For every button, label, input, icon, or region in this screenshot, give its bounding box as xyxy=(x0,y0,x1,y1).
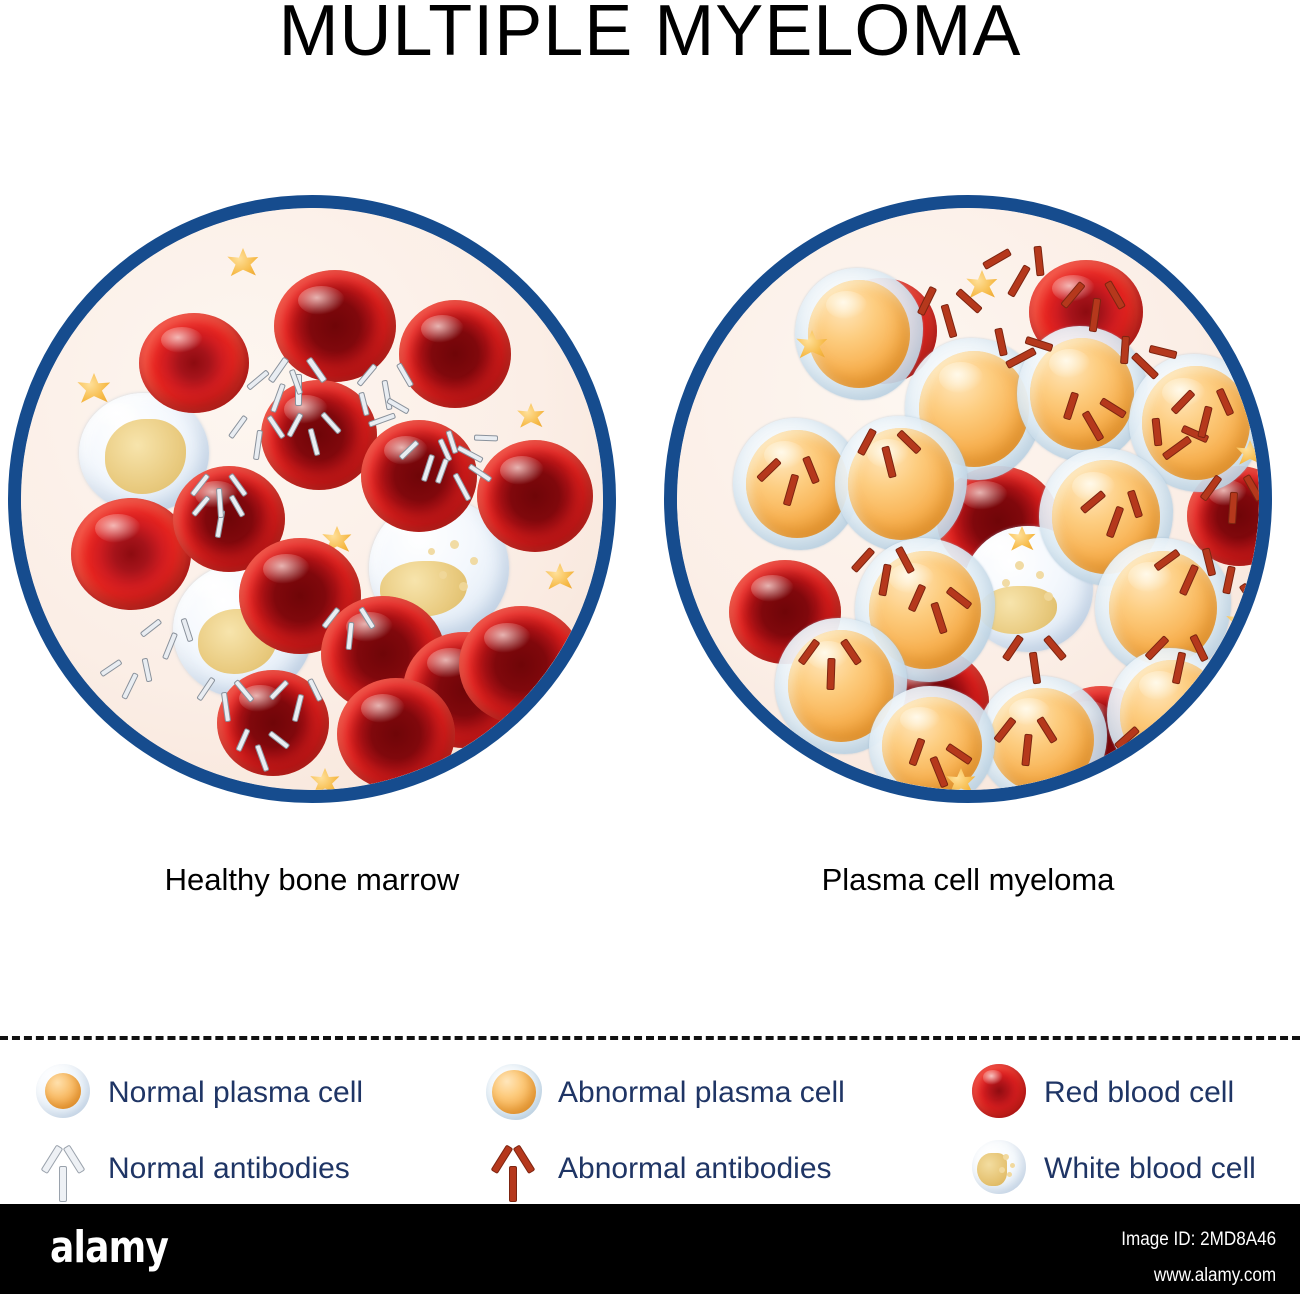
abnormal-antibody xyxy=(1117,716,1181,780)
cell-granule xyxy=(439,571,447,579)
abnormal-antibody xyxy=(799,632,863,696)
normal-antibody xyxy=(233,720,293,780)
legend-item-abnormal-antibodies: Abnormal antibodies xyxy=(486,1140,832,1198)
red-blood-cell xyxy=(459,606,583,724)
legend-label: Normal plasma cell xyxy=(108,1078,363,1108)
abnormal-antibody xyxy=(1173,380,1237,444)
red-blood-cell xyxy=(337,678,455,790)
caption-healthy: Healthy bone marrow xyxy=(8,862,616,898)
legend-divider xyxy=(0,1036,1300,1040)
cell-granule xyxy=(1002,579,1010,587)
platelet xyxy=(544,563,576,593)
abnormal-antibody xyxy=(907,576,971,640)
panel-healthy-bone-marrow xyxy=(8,195,616,803)
cell-granule xyxy=(1015,561,1024,570)
abnormal-antibody xyxy=(995,708,1059,772)
normal-antibody xyxy=(285,404,345,464)
cell-nucleus xyxy=(808,280,910,388)
legend-item-normal-antibodies: Normal antibodies xyxy=(36,1140,350,1198)
cell-granule xyxy=(1003,1154,1009,1160)
platelet xyxy=(226,248,260,280)
cell-granule xyxy=(459,582,468,591)
normal-antibodies-icon xyxy=(36,1140,94,1198)
platelet xyxy=(76,373,112,407)
abnormal-antibody xyxy=(987,238,1051,302)
red-blood-cell-icon xyxy=(972,1064,1030,1122)
abnormal-antibody xyxy=(1083,480,1147,544)
caption-myeloma: Plasma cell myeloma xyxy=(664,862,1272,898)
legend-item-white-blood-cell: White blood cell xyxy=(972,1140,1256,1198)
normal-antibody xyxy=(441,418,501,478)
red-blood-cell xyxy=(139,313,249,413)
legend-label: Normal antibodies xyxy=(108,1154,350,1184)
legend-label: Abnormal antibodies xyxy=(558,1154,832,1184)
cell-granule xyxy=(470,557,478,565)
legend: Normal plasma cell Abnormal plasma cell … xyxy=(0,1058,1300,1198)
legend-item-normal-plasma-cell: Normal plasma cell xyxy=(36,1064,363,1122)
cell-highlight xyxy=(193,574,241,604)
abnormal-antibody xyxy=(857,420,921,484)
abnormal-antibody xyxy=(759,448,823,512)
dish-myeloma xyxy=(664,195,1272,803)
normal-antibody xyxy=(321,598,381,658)
cell-nucleus xyxy=(45,1073,82,1110)
abnormal-antibody xyxy=(1061,384,1125,448)
cell-highlight xyxy=(983,1070,1004,1084)
abnormal-antibody xyxy=(1113,326,1177,390)
dish-healthy-contents xyxy=(21,208,603,790)
cell-granule xyxy=(1044,592,1053,601)
cell-granule xyxy=(999,1167,1005,1173)
abnormal-antibody xyxy=(1219,556,1259,620)
alamy-url: www.alamy.com xyxy=(1121,1258,1276,1294)
abnormal-antibody xyxy=(1147,626,1211,690)
abnormal-antibody xyxy=(1157,538,1221,602)
white-blood-cell-icon xyxy=(972,1140,1030,1198)
legend-label: Abnormal plasma cell xyxy=(558,1078,845,1108)
panel-plasma-cell-myeloma xyxy=(664,195,1272,803)
alamy-logo: alamy xyxy=(50,1222,168,1273)
legend-item-abnormal-plasma-cell: Abnormal plasma cell xyxy=(486,1064,845,1122)
abnormal-antibody xyxy=(1201,466,1259,530)
dish-myeloma-contents xyxy=(677,208,1259,790)
cell-granule xyxy=(1010,1163,1015,1168)
abnormal-antibodies-icon xyxy=(486,1140,544,1198)
abnormal-plasma-cell xyxy=(795,268,923,400)
legend-label: White blood cell xyxy=(1044,1154,1256,1184)
cell-granule xyxy=(1036,571,1044,579)
normal-antibody xyxy=(229,408,289,468)
cell-nucleus xyxy=(105,419,186,493)
abnormal-plasma-cell-icon xyxy=(486,1064,544,1122)
abnormal-antibody xyxy=(917,278,981,342)
normal-antibody xyxy=(101,648,161,708)
footer-meta: Image ID: 2MD8A46 www.alamy.com xyxy=(1104,1222,1276,1294)
cell-granule xyxy=(450,540,459,549)
image-id: Image ID: 2MD8A46 xyxy=(1121,1222,1276,1258)
normal-plasma-cell-icon xyxy=(36,1064,94,1122)
cell-granule xyxy=(1007,1172,1012,1177)
footer-bar: alamy Image ID: 2MD8A46 www.alamy.com xyxy=(0,1204,1300,1294)
legend-item-red-blood-cell: Red blood cell xyxy=(972,1064,1234,1122)
cell-nucleus xyxy=(492,1070,536,1114)
legend-label: Red blood cell xyxy=(1044,1078,1234,1108)
platelet xyxy=(516,403,546,431)
page-title: MULTIPLE MYELOMA xyxy=(0,0,1300,70)
abnormal-antibody xyxy=(907,730,971,790)
dish-healthy xyxy=(8,195,616,803)
normal-antibody xyxy=(191,466,251,526)
abnormal-antibody xyxy=(989,318,1053,382)
abnormal-antibody xyxy=(1003,626,1067,690)
platelet xyxy=(309,768,341,790)
cell-granule xyxy=(428,548,435,555)
